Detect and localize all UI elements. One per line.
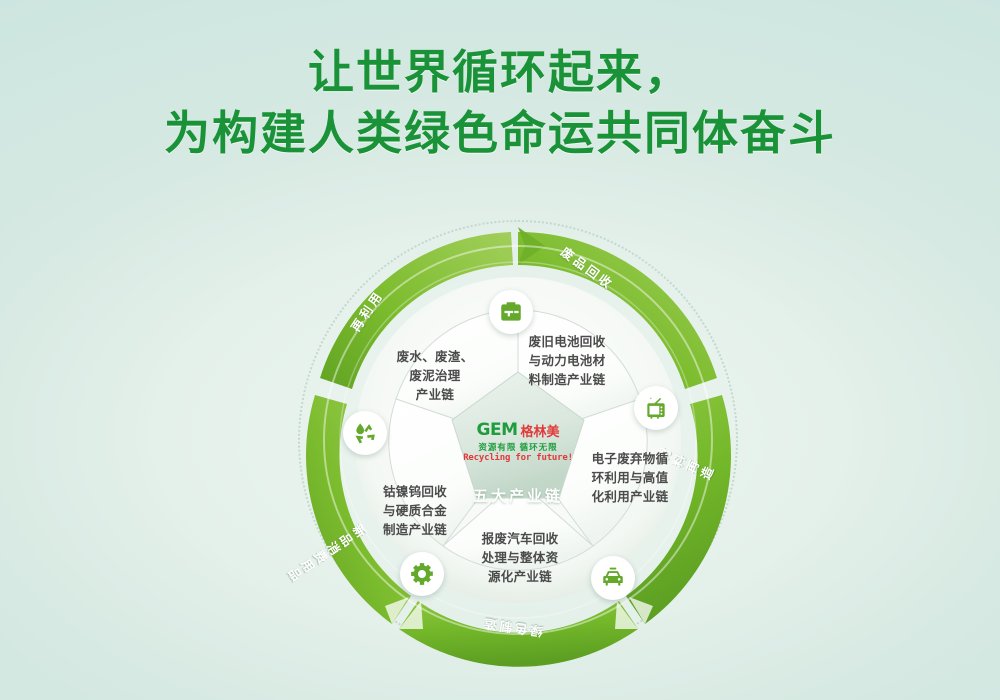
logo-mark-cn: 格林美 xyxy=(520,421,559,440)
logo-mark: GEM xyxy=(477,420,518,440)
tv-icon xyxy=(634,386,678,430)
logo-slogan-cn: 资源有限 循环无限 xyxy=(453,441,583,453)
gear-icon xyxy=(400,552,444,596)
headline-line-2: 为构建人类绿色命运共同体奋斗 xyxy=(0,103,1000,164)
center-logo-block: GEM 格林美 资源有限 循环无限 Recycling for future! … xyxy=(453,420,583,506)
segment-label-waste-water-slag-sludge: 废水、废渣、 废泥治理 产业链 xyxy=(379,348,491,404)
battery-icon xyxy=(489,290,533,334)
page-title: 让世界循环起来， 为构建人类绿色命运共同体奋斗 xyxy=(0,42,1000,163)
car-icon xyxy=(591,556,635,600)
segment-label-cobalt-nickel-tungsten: 钴镍钨回收 与硬质合金 制造产业链 xyxy=(363,483,467,539)
headline-line-1: 让世界循环起来， xyxy=(0,42,1000,103)
industry-chain-diagram: 废品回收 材料再造 绿色制造 新品消费用品 再利用 废旧电池回收 与动力电池材 … xyxy=(293,215,743,680)
logo-row: GEM 格林美 xyxy=(453,420,583,440)
segment-label-battery: 废旧电池回收 与动力电池材 料制造产业链 xyxy=(511,333,623,389)
center-caption: 五大产业链 xyxy=(453,485,583,506)
segment-label-e-waste: 电子废弃物循 环利用与高值 化利用产业链 xyxy=(581,450,679,506)
segment-label-scrap-auto: 报废汽车回收 处理与整体资 源化产业链 xyxy=(466,530,574,586)
logo-slogan-en: Recycling for future! xyxy=(453,453,583,463)
water-recycle-icon xyxy=(343,411,387,455)
